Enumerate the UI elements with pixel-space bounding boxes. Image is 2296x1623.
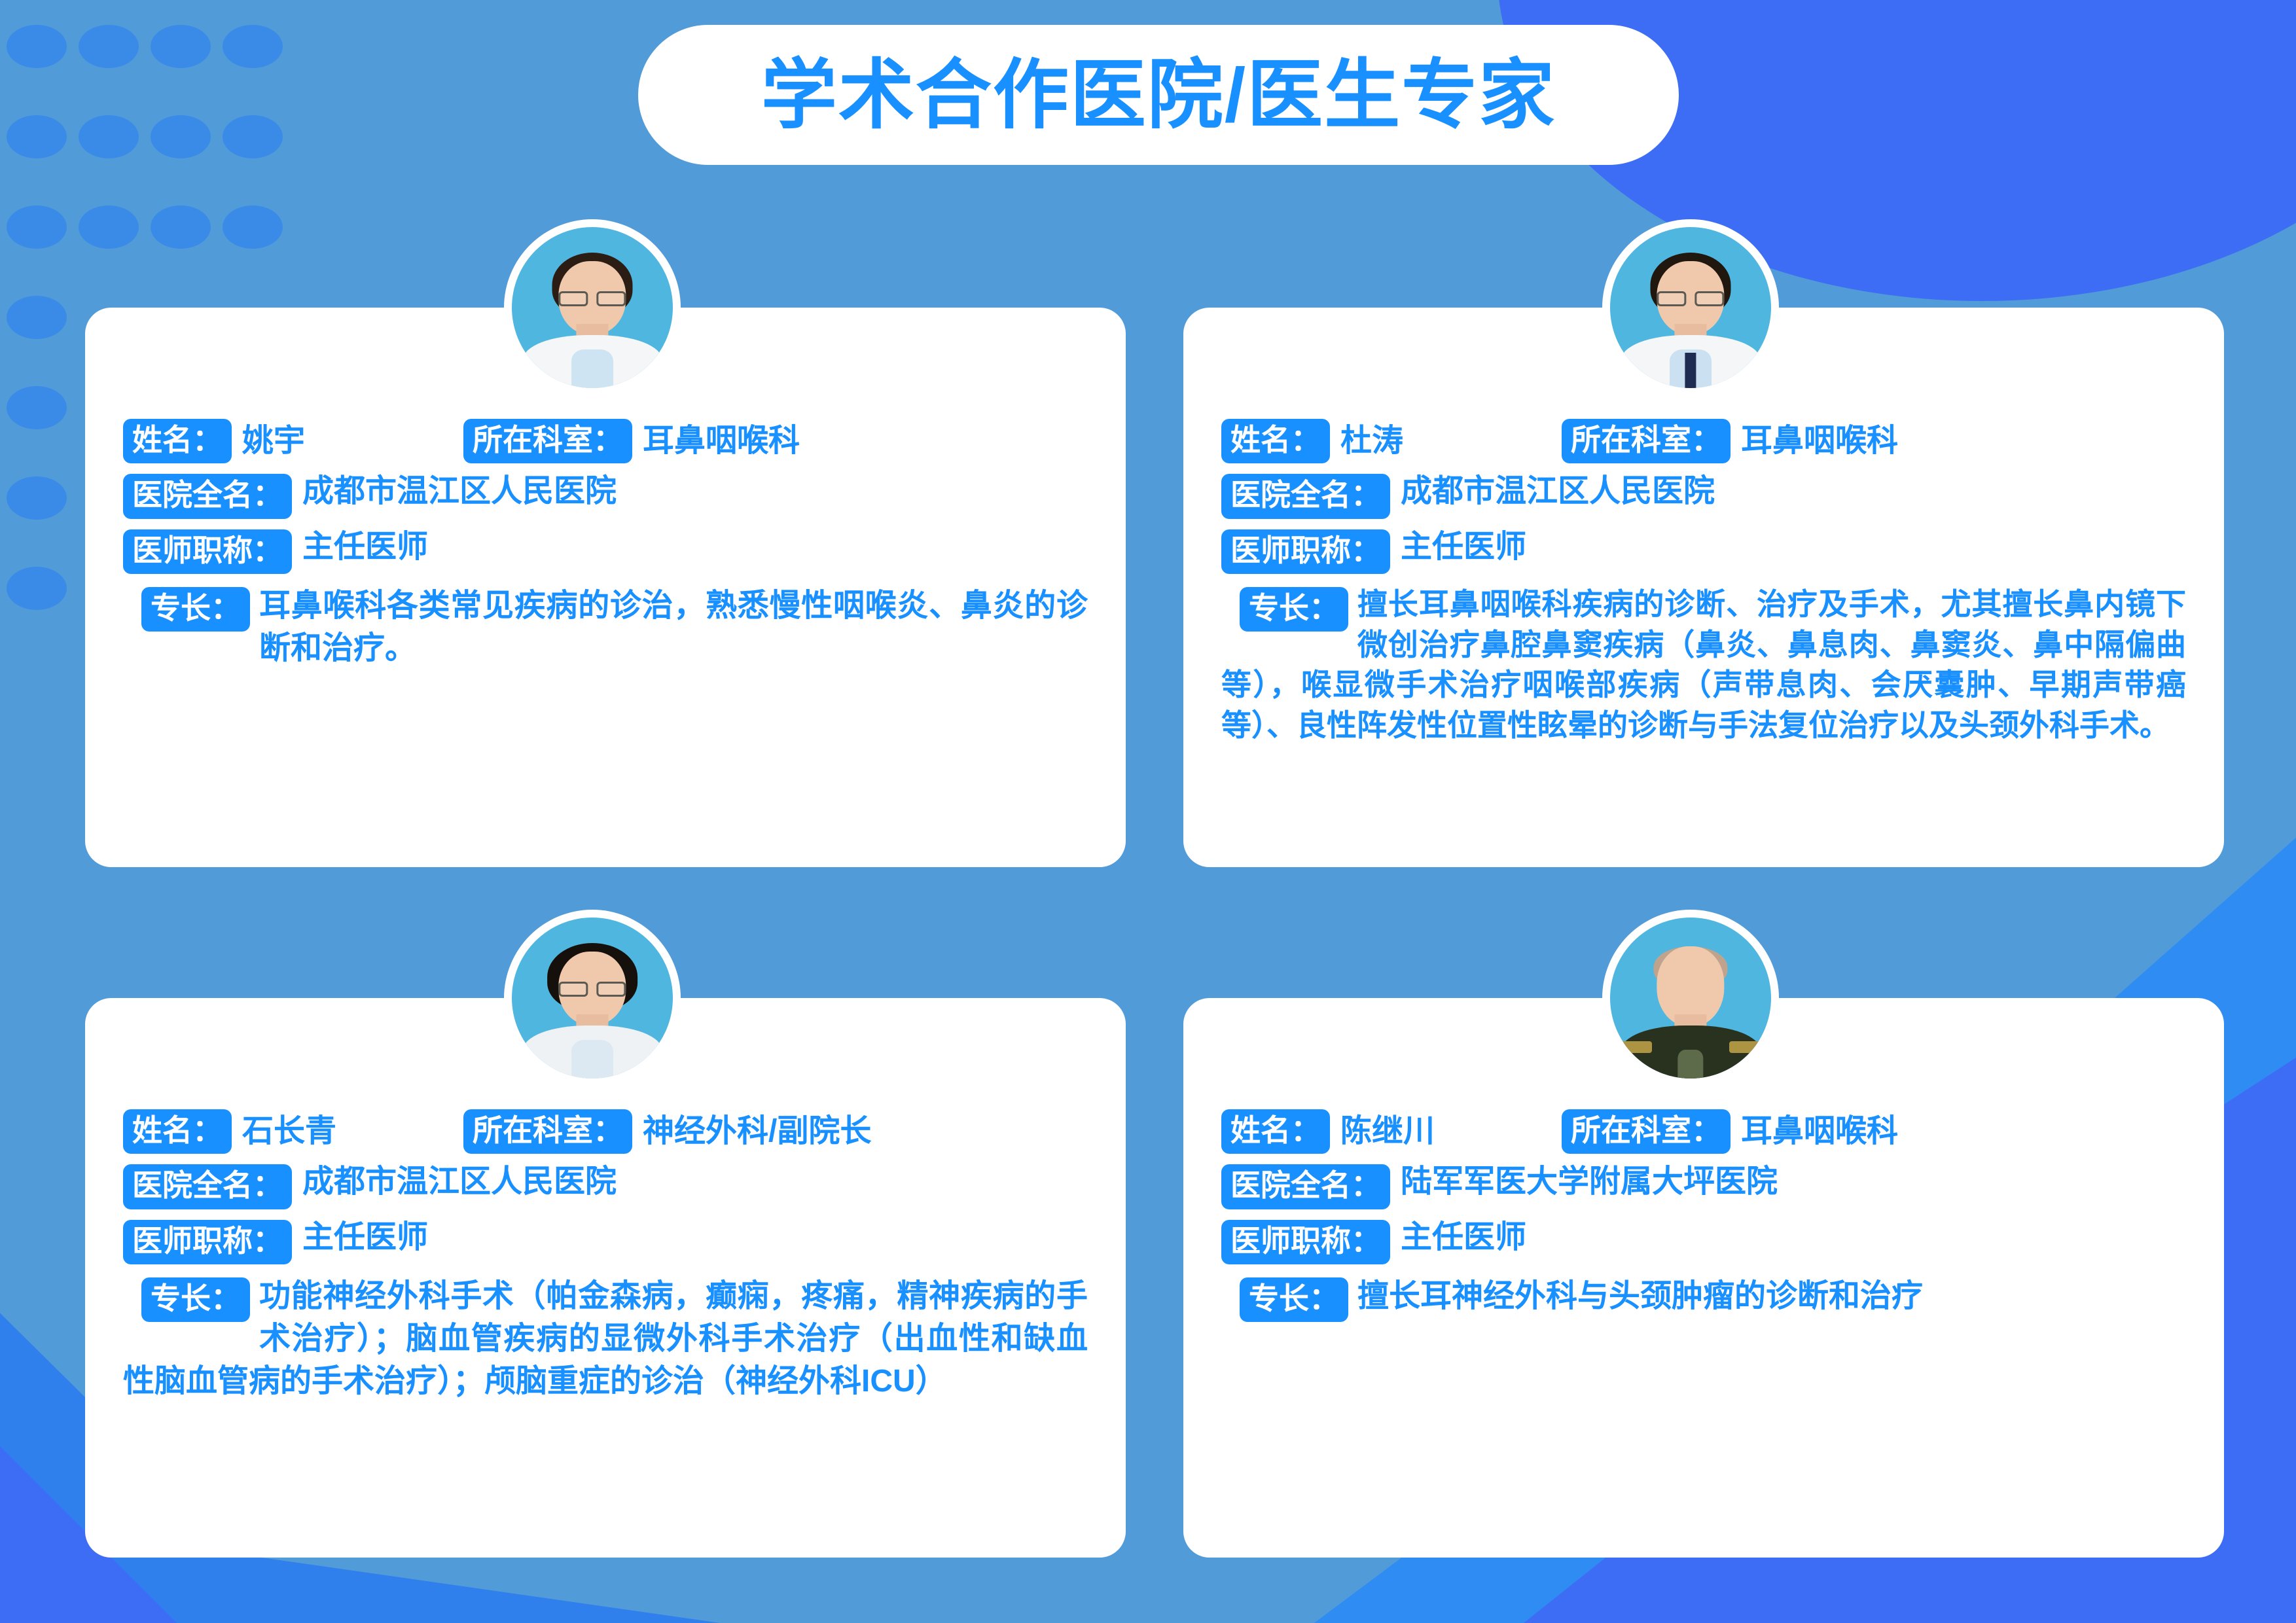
decorative-dot [7,25,67,68]
doctor-hospital: 陆军军医大学附属大坪医院 [1401,1164,1778,1200]
decorative-dot [79,115,139,158]
decorative-dot [7,476,67,520]
doctor-specialty-block: 专长：耳鼻喉科各类常见疾病的诊治，熟悉慢性咽喉炎、鼻炎的诊断和治疗。 [123,584,1088,670]
avatar-epaulette-left [1620,1041,1652,1052]
avatar-image-female-doctor [512,227,673,388]
decorative-dot [223,25,283,68]
doctor-title: 主任医师 [302,1220,428,1255]
avatar-shirt [571,349,613,388]
hospital-label: 医院全名： [123,1164,292,1209]
doctor-specialty-block: 专长：功能神经外科手术（帕金森病，癫痫，疼痛，精神疾病的手术治疗）；脑血管疾病的… [123,1275,1088,1403]
decorative-dot [7,205,67,249]
decorative-dot [7,296,67,339]
department-label: 所在科室： [1562,419,1731,463]
doctor-hospital: 成都市温江区人民医院 [1401,474,1715,509]
decorative-dot [7,567,67,610]
doctor-department: 耳鼻咽喉科 [1741,1114,1898,1149]
avatar [504,910,681,1086]
doctor-name: 杜涛 [1340,423,1403,459]
specialty-label: 专长： [1240,1277,1348,1322]
doctor-hospital: 成都市温江区人民医院 [302,474,617,509]
decorative-dot [79,25,139,68]
department-label: 所在科室： [463,419,632,463]
page-title: 学术合作医院/医生专家 [761,57,1556,133]
title-label: 医师职称： [1221,1220,1390,1264]
decorative-dot [7,115,67,158]
glasses-icon [558,982,626,996]
doctor-card[interactable]: 姓名： 姚宇 所在科室： 耳鼻咽喉科 医院全名： 成都市温江区人民医院 医师职称… [85,308,1126,867]
page-title-pill: 学术合作医院/医生专家 [638,25,1679,165]
doctor-hospital: 成都市温江区人民医院 [302,1164,617,1200]
avatar [504,219,681,396]
doctor-title: 主任医师 [1401,1220,1526,1255]
doctor-card[interactable]: 姓名： 杜涛 所在科室： 耳鼻咽喉科 医院全名： 成都市温江区人民医院 医师职称… [1183,308,2224,867]
name-label: 姓名： [1221,419,1330,463]
hospital-label: 医院全名： [1221,1164,1390,1209]
title-label: 医师职称： [1221,529,1390,574]
doctor-specialty: 擅长耳鼻咽喉科疾病的诊断、治疗及手术，尤其擅长鼻内镜下微创治疗鼻腔鼻窦疾病（鼻炎… [1221,587,2186,742]
doctor-specialty: 功能神经外科手术（帕金森病，癫痫，疼痛，精神疾病的手术治疗）；脑血管疾病的显微外… [123,1279,1088,1399]
avatar [1602,219,1779,396]
doctor-department: 耳鼻咽喉科 [1741,423,1898,459]
decorative-dot [223,205,283,249]
doctor-specialty: 耳鼻喉科各类常见疾病的诊治，熟悉慢性咽喉炎、鼻炎的诊断和治疗。 [259,588,1088,666]
avatar-image-military-officer [1610,918,1771,1079]
specialty-label: 专长： [141,1277,250,1322]
hospital-label: 医院全名： [1221,474,1390,518]
specialty-label: 专长： [141,587,250,632]
name-label: 姓名： [123,419,232,463]
department-label: 所在科室： [463,1109,632,1154]
doctor-specialty-block: 专长：擅长耳鼻咽喉科疾病的诊断、治疗及手术，尤其擅长鼻内镜下微创治疗鼻腔鼻窦疾病… [1221,584,2186,746]
title-label: 医师职称： [123,529,292,574]
decorative-dot [151,25,211,68]
doctor-department: 神经外科/副院长 [643,1114,871,1149]
specialty-label: 专长： [1240,587,1348,632]
glasses-icon [558,291,626,306]
decorative-dot [7,386,67,429]
title-label: 医师职称： [123,1220,292,1264]
doctor-specialty-block: 专长：擅长耳神经外科与头颈肿瘤的诊断和治疗 [1221,1275,2186,1317]
glasses-icon [1657,291,1724,306]
doctor-name: 陈继川 [1340,1114,1435,1149]
decorative-dot [223,115,283,158]
avatar [1602,910,1779,1086]
avatar-image-male-doctor-tie [1610,227,1771,388]
doctor-title: 主任医师 [302,529,428,565]
decorative-dot [151,115,211,158]
doctor-card[interactable]: 姓名： 石长青 所在科室： 神经外科/副院长 医院全名： 成都市温江区人民医院 … [85,998,1126,1558]
name-label: 姓名： [1221,1109,1330,1154]
name-label: 姓名： [123,1109,232,1154]
doctor-name: 姚宇 [242,423,305,459]
decorative-dot [79,205,139,249]
decorative-dot [151,205,211,249]
doctor-department: 耳鼻咽喉科 [643,423,800,459]
avatar-necktie [1685,353,1696,388]
department-label: 所在科室： [1562,1109,1731,1154]
hospital-label: 医院全名： [123,474,292,518]
avatar-epaulette-right [1729,1041,1761,1052]
avatar-shirt [571,1040,613,1079]
doctor-card[interactable]: 姓名： 陈继川 所在科室： 耳鼻咽喉科 医院全名： 陆军军医大学附属大坪医院 医… [1183,998,2224,1558]
doctor-title: 主任医师 [1401,529,1526,565]
doctor-name: 石长青 [242,1114,336,1149]
avatar-image-male-doctor [512,918,673,1079]
avatar-collar [1677,1050,1703,1079]
doctor-specialty: 擅长耳神经外科与头颈肿瘤的诊断和治疗 [1357,1279,1923,1313]
